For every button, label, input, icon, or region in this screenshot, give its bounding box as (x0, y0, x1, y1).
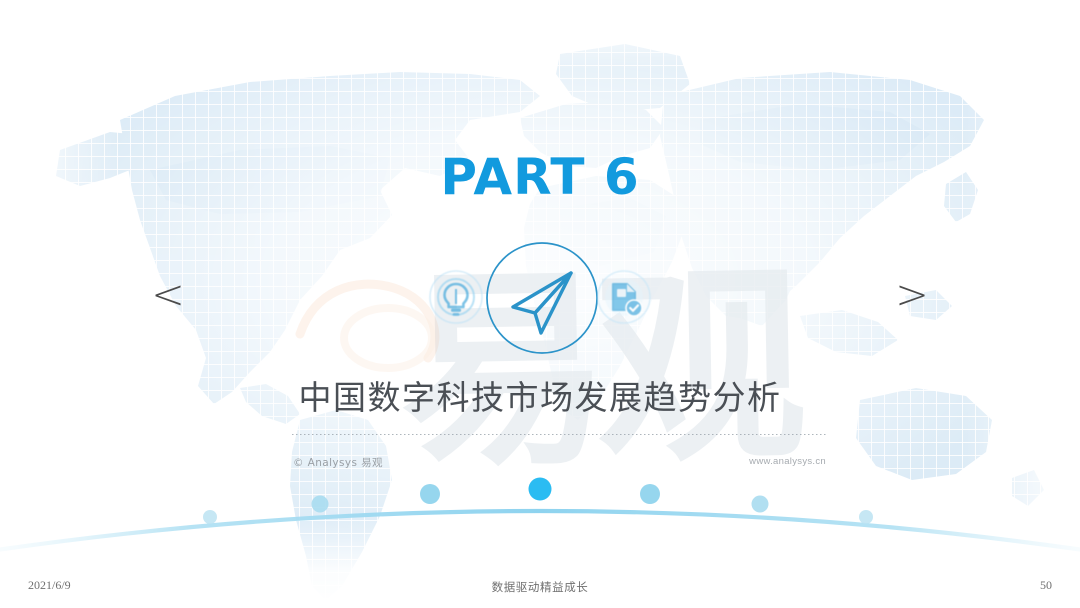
document-check-icon (593, 266, 655, 328)
progress-dot[interactable] (859, 510, 873, 524)
slide-footer: 2021/6/9 数据驱动精益成长 50 (0, 568, 1080, 608)
chevron-left-icon[interactable]: < (148, 272, 188, 318)
page-title: 中国数字科技市场发展趋势分析 (0, 371, 1080, 419)
lightbulb-icon (425, 266, 487, 328)
progress-dot[interactable] (640, 484, 660, 504)
progress-dot[interactable] (420, 484, 440, 504)
page-number: 50 (1040, 578, 1052, 593)
progress-dot[interactable] (312, 496, 329, 513)
progress-dot-active[interactable] (529, 478, 552, 501)
icon-cluster (425, 242, 655, 354)
map-top-fade (0, 0, 1080, 70)
progress-arc (0, 455, 1080, 565)
progress-dot[interactable] (203, 510, 217, 524)
footer-slogan: 数据驱动精益成长 (0, 579, 1080, 595)
divider-line (292, 434, 826, 435)
slide-canvas: 易观 PART 6 (0, 0, 1080, 608)
chevron-right-icon[interactable]: > (892, 272, 932, 318)
paper-plane-icon (483, 239, 601, 357)
part-heading: PART 6 (0, 148, 1080, 206)
progress-dot[interactable] (752, 496, 769, 513)
